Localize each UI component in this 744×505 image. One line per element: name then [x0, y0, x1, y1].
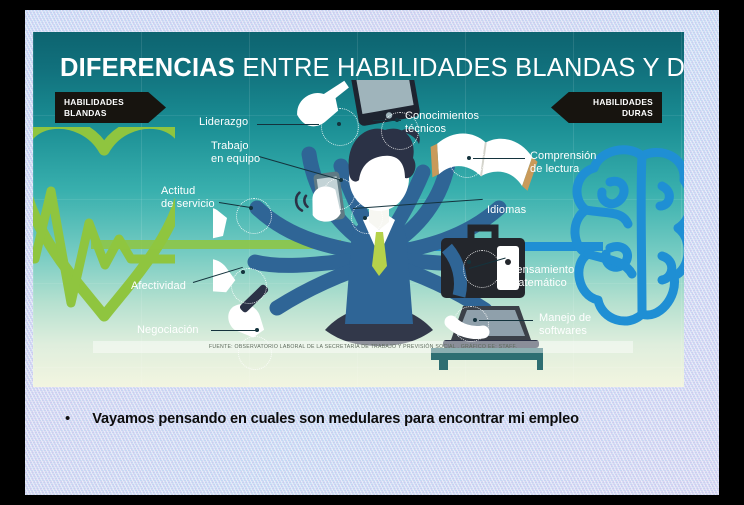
ring-comprension — [449, 142, 485, 178]
label-liderazgo: Liderazgo — [199, 116, 248, 129]
title-bold: DIFERENCIAS — [60, 54, 235, 82]
label-idiomas: Idiomas — [487, 204, 526, 217]
presentation-slide: DIFERENCIAS ENTRE HABILIDADES BLANDAS Y … — [25, 10, 719, 495]
ring-actitud — [236, 198, 272, 234]
ring-liderazgo — [321, 108, 359, 146]
dot-comprension-lectura — [467, 156, 471, 160]
tag-left-line2: BLANDAS — [64, 108, 146, 119]
leader-comprension-lectura — [473, 158, 525, 159]
leader-liderazgo — [257, 124, 319, 125]
ring-manejo — [453, 306, 489, 342]
dot-negociacion — [255, 328, 259, 332]
dot-actitud-servicio — [249, 206, 253, 210]
tag-right-line2: DURAS — [571, 108, 653, 119]
label-conocimientos-tecnicos: Conocimientos técnicos — [405, 110, 479, 135]
dot-conocimientos-tecnicos — [395, 118, 399, 122]
label-manejo-softwares: Manejo de softwares — [539, 312, 591, 337]
tag-habilidades-blandas: HABILIDADES BLANDAS — [55, 92, 166, 123]
dot-pensamiento-matematico — [467, 260, 471, 264]
label-afectividad: Afectividad — [131, 280, 186, 293]
dot-trabajo-equipo — [339, 178, 343, 182]
ring-trabajo-equipo — [323, 178, 355, 210]
source-strip: FUENTE: OBSERVATORIO LABORAL DE LA SECRE… — [93, 341, 633, 353]
tag-right-line1: HABILIDADES — [571, 97, 653, 108]
source-text: FUENTE: OBSERVATORIO LABORAL DE LA SECRE… — [93, 341, 633, 353]
tag-habilidades-duras: HABILIDADES DURAS — [551, 92, 662, 123]
dot-afectividad — [241, 270, 245, 274]
bullet-text: Vayamos pensando en cuales son medulares… — [92, 410, 579, 428]
infographic-panel: DIFERENCIAS ENTRE HABILIDADES BLANDAS Y … — [33, 32, 684, 387]
bullet-row: • Vayamos pensando en cuales son medular… — [65, 410, 685, 428]
dot-liderazgo — [337, 122, 341, 126]
screen: DIFERENCIAS ENTRE HABILIDADES BLANDAS Y … — [0, 0, 744, 505]
leader-manejo-softwares — [479, 320, 533, 321]
label-trabajo-equipo: Trabajo en equipo — [211, 140, 260, 165]
tag-left-line1: HABILIDADES — [64, 97, 146, 108]
heart-ekg-icon — [33, 127, 175, 337]
label-comprension-lectura: Comprensión de lectura — [530, 150, 597, 175]
ring-afectividad — [231, 268, 267, 304]
bullet-marker: • — [65, 410, 70, 428]
label-pensamiento-matematico: Pensamiento matemático — [509, 264, 574, 289]
label-actitud-servicio: Actitud de servicio — [161, 185, 215, 210]
dot-idiomas — [363, 216, 367, 220]
dot-manejo-softwares — [473, 318, 477, 322]
title-rest: ENTRE HABILIDADES BLANDAS Y DURAS — [235, 54, 684, 82]
label-negociacion: Negociación — [137, 324, 199, 337]
infographic-title: DIFERENCIAS ENTRE HABILIDADES BLANDAS Y … — [60, 54, 684, 83]
leader-negociacion — [211, 330, 259, 331]
